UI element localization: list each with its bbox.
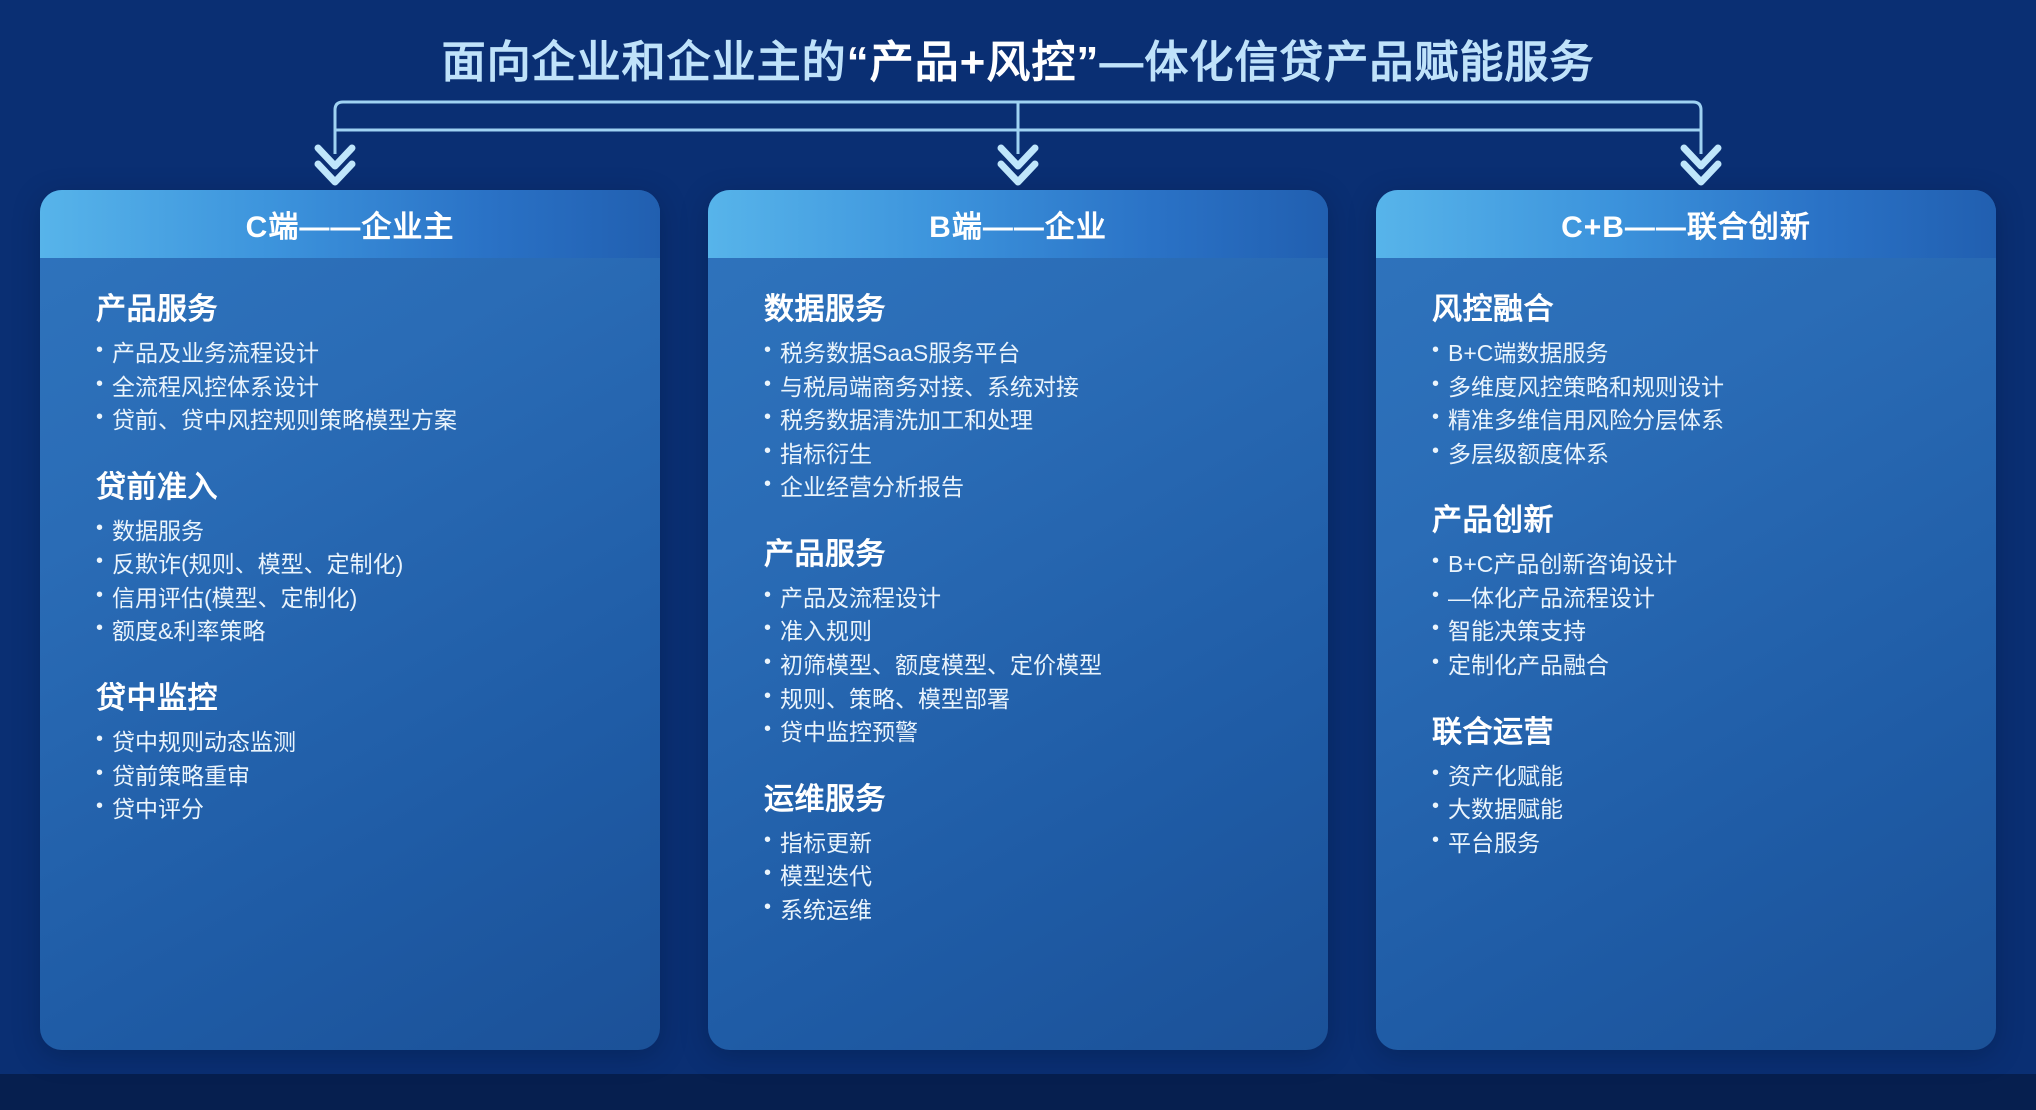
section-block: 贷中监控 贷中规则动态监测 贷前策略重审 贷中评分 bbox=[96, 673, 626, 825]
column-header-title: C端——企业主 bbox=[246, 202, 455, 246]
list-item: 产品及业务流程设计 bbox=[96, 338, 626, 369]
page-title: 面向企业和企业主的“产品+风控”—体化信贷产品赋能服务 bbox=[442, 26, 1595, 90]
column-header-c-end: C端——企业主 bbox=[40, 190, 660, 258]
list-item: 贷前、贷中风控规则策略模型方案 bbox=[96, 405, 626, 436]
page-title-quoted: “产品+风控” bbox=[847, 38, 1100, 87]
column-header-title: C+B——联合创新 bbox=[1561, 202, 1811, 246]
columns-container: C端——企业主 产品服务 产品及业务流程设计 全流程风控体系设计 贷前、贷中风控… bbox=[40, 190, 1996, 1050]
column-card-c-plus-b[interactable]: C+B——联合创新 风控融合 B+C端数据服务 多维度风控策略和规则设计 精准多… bbox=[1376, 190, 1996, 1050]
list-item: 多维度风控策略和规则设计 bbox=[1432, 372, 1962, 403]
bullet-list: 数据服务 反欺诈(规则、模型、定制化) 信用评估(模型、定制化) 额度&利率策略 bbox=[96, 516, 626, 647]
connector-bracket bbox=[0, 96, 2036, 186]
bullet-list: 税务数据SaaS服务平台 与税局端商务对接、系统对接 税务数据清洗加工和处理 指… bbox=[764, 338, 1294, 503]
section-title: 运维服务 bbox=[764, 774, 1294, 818]
section-block: 产品服务 产品及业务流程设计 全流程风控体系设计 贷前、贷中风控规则策略模型方案 bbox=[96, 284, 626, 436]
list-item: 准入规则 bbox=[764, 616, 1294, 647]
section-title: 产品服务 bbox=[96, 284, 626, 328]
section-title: 贷中监控 bbox=[96, 673, 626, 717]
bullet-list: 贷中规则动态监测 贷前策略重审 贷中评分 bbox=[96, 727, 626, 825]
list-item: 信用评估(模型、定制化) bbox=[96, 583, 626, 614]
list-item: 全流程风控体系设计 bbox=[96, 372, 626, 403]
section-block: 产品创新 B+C产品创新咨询设计 —体化产品流程设计 智能决策支持 定制化产品融… bbox=[1432, 495, 1962, 680]
list-item: 贷前策略重审 bbox=[96, 761, 626, 792]
list-item: 额度&利率策略 bbox=[96, 616, 626, 647]
list-item: 资产化赋能 bbox=[1432, 761, 1962, 792]
column-header-b-end: B端——企业 bbox=[708, 190, 1328, 258]
column-card-c-end[interactable]: C端——企业主 产品服务 产品及业务流程设计 全流程风控体系设计 贷前、贷中风控… bbox=[40, 190, 660, 1050]
page-title-suffix: —体化信贷产品赋能服务 bbox=[1099, 38, 1594, 87]
list-item: B+C端数据服务 bbox=[1432, 338, 1962, 369]
column-header-title: B端——企业 bbox=[929, 202, 1107, 246]
section-title: 风控融合 bbox=[1432, 284, 1962, 328]
section-block: 数据服务 税务数据SaaS服务平台 与税局端商务对接、系统对接 税务数据清洗加工… bbox=[764, 284, 1294, 503]
slide-canvas: 面向企业和企业主的“产品+风控”—体化信贷产品赋能服务 bbox=[0, 0, 2036, 1110]
list-item: B+C产品创新咨询设计 bbox=[1432, 549, 1962, 580]
bullet-list: B+C产品创新咨询设计 —体化产品流程设计 智能决策支持 定制化产品融合 bbox=[1432, 549, 1962, 680]
list-item: 系统运维 bbox=[764, 895, 1294, 926]
list-item: 反欺诈(规则、模型、定制化) bbox=[96, 549, 626, 580]
section-title: 数据服务 bbox=[764, 284, 1294, 328]
column-body-c-plus-b: 风控融合 B+C端数据服务 多维度风控策略和规则设计 精准多维信用风险分层体系 … bbox=[1376, 258, 1996, 1050]
column-card-b-end[interactable]: B端——企业 数据服务 税务数据SaaS服务平台 与税局端商务对接、系统对接 税… bbox=[708, 190, 1328, 1050]
list-item: 产品及流程设计 bbox=[764, 583, 1294, 614]
section-block: 风控融合 B+C端数据服务 多维度风控策略和规则设计 精准多维信用风险分层体系 … bbox=[1432, 284, 1962, 469]
list-item: 多层级额度体系 bbox=[1432, 439, 1962, 470]
page-title-container: 面向企业和企业主的“产品+风控”—体化信贷产品赋能服务 bbox=[0, 26, 2036, 90]
section-block: 联合运营 资产化赋能 大数据赋能 平台服务 bbox=[1432, 707, 1962, 859]
list-item: 大数据赋能 bbox=[1432, 794, 1962, 825]
bullet-list: 产品及业务流程设计 全流程风控体系设计 贷前、贷中风控规则策略模型方案 bbox=[96, 338, 626, 436]
bullet-list: 资产化赋能 大数据赋能 平台服务 bbox=[1432, 761, 1962, 859]
list-item: 与税局端商务对接、系统对接 bbox=[764, 372, 1294, 403]
bullet-list: 指标更新 模型迭代 系统运维 bbox=[764, 828, 1294, 926]
column-body-b-end: 数据服务 税务数据SaaS服务平台 与税局端商务对接、系统对接 税务数据清洗加工… bbox=[708, 258, 1328, 1050]
section-block: 贷前准入 数据服务 反欺诈(规则、模型、定制化) 信用评估(模型、定制化) 额度… bbox=[96, 462, 626, 647]
list-item: 指标更新 bbox=[764, 828, 1294, 859]
list-item: 初筛模型、额度模型、定价模型 bbox=[764, 650, 1294, 681]
list-item: 模型迭代 bbox=[764, 861, 1294, 892]
list-item: 定制化产品融合 bbox=[1432, 650, 1962, 681]
list-item: 指标衍生 bbox=[764, 439, 1294, 470]
section-title: 联合运营 bbox=[1432, 707, 1962, 751]
section-title: 产品创新 bbox=[1432, 495, 1962, 539]
list-item: 平台服务 bbox=[1432, 828, 1962, 859]
column-header-c-plus-b: C+B——联合创新 bbox=[1376, 190, 1996, 258]
section-title: 产品服务 bbox=[764, 529, 1294, 573]
list-item: 贷中规则动态监测 bbox=[96, 727, 626, 758]
section-block: 运维服务 指标更新 模型迭代 系统运维 bbox=[764, 774, 1294, 926]
section-title: 贷前准入 bbox=[96, 462, 626, 506]
bullet-list: B+C端数据服务 多维度风控策略和规则设计 精准多维信用风险分层体系 多层级额度… bbox=[1432, 338, 1962, 469]
list-item: 规则、策略、模型部署 bbox=[764, 684, 1294, 715]
list-item: 税务数据SaaS服务平台 bbox=[764, 338, 1294, 369]
section-block: 产品服务 产品及流程设计 准入规则 初筛模型、额度模型、定价模型 规则、策略、模… bbox=[764, 529, 1294, 748]
list-item: —体化产品流程设计 bbox=[1432, 583, 1962, 614]
list-item: 税务数据清洗加工和处理 bbox=[764, 405, 1294, 436]
list-item: 智能决策支持 bbox=[1432, 616, 1962, 647]
column-body-c-end: 产品服务 产品及业务流程设计 全流程风控体系设计 贷前、贷中风控规则策略模型方案… bbox=[40, 258, 660, 1050]
list-item: 企业经营分析报告 bbox=[764, 472, 1294, 503]
bullet-list: 产品及流程设计 准入规则 初筛模型、额度模型、定价模型 规则、策略、模型部署 贷… bbox=[764, 583, 1294, 748]
list-item: 精准多维信用风险分层体系 bbox=[1432, 405, 1962, 436]
list-item: 贷中评分 bbox=[96, 794, 626, 825]
page-title-prefix: 面向企业和企业主的 bbox=[442, 38, 847, 87]
list-item: 贷中监控预警 bbox=[764, 717, 1294, 748]
list-item: 数据服务 bbox=[96, 516, 626, 547]
